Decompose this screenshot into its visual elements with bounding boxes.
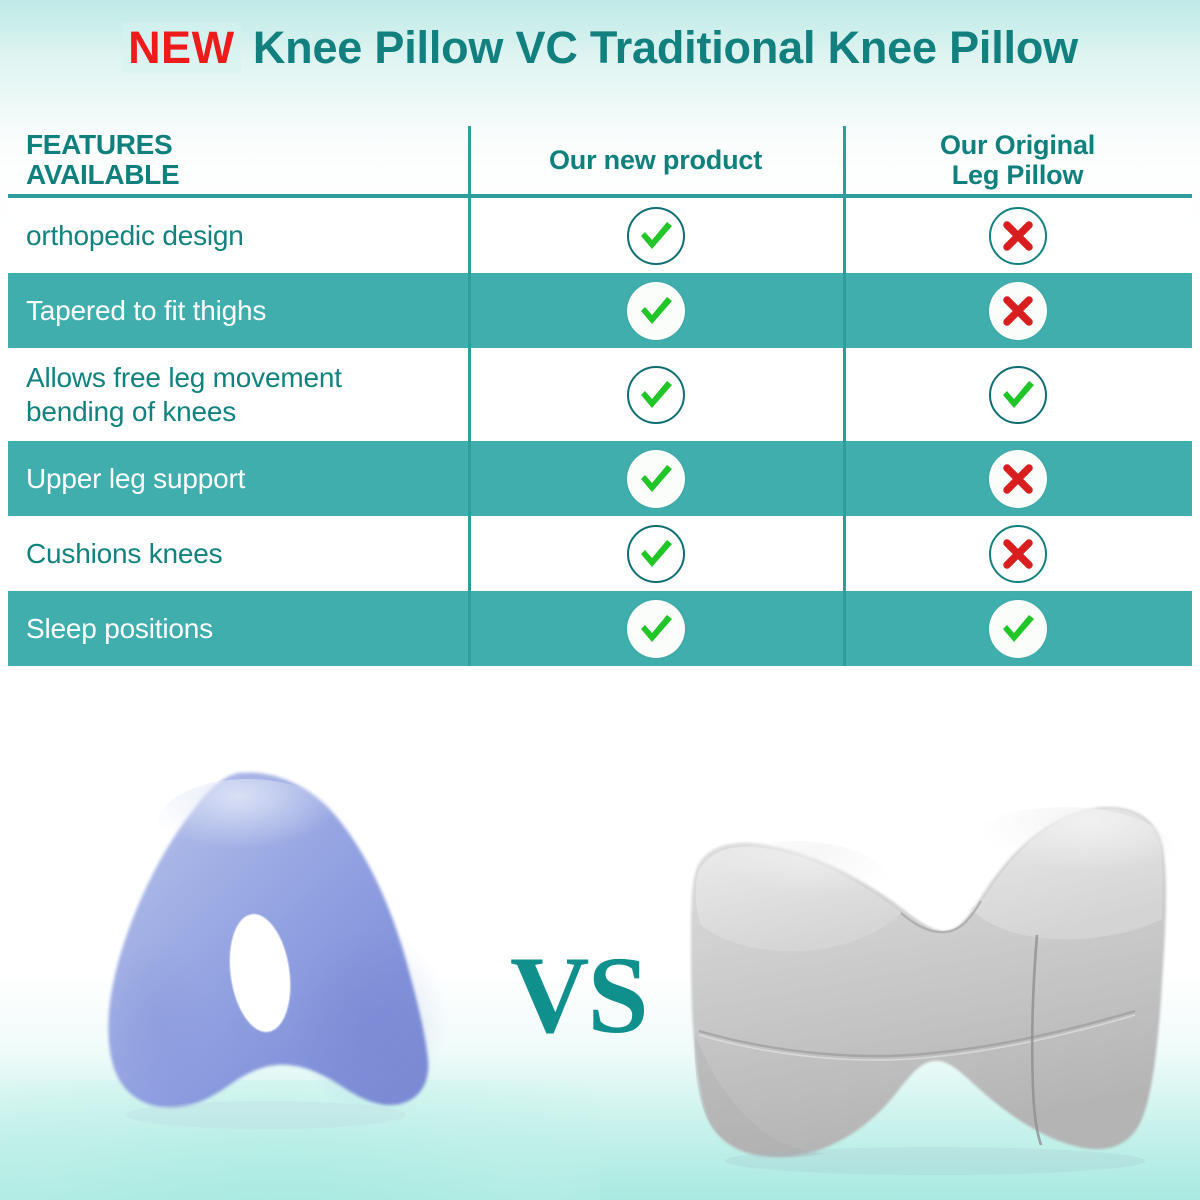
header-cell-original-pillow: Our Original Leg Pillow bbox=[843, 126, 1192, 194]
cell-new-product bbox=[468, 516, 843, 591]
column-divider-2 bbox=[843, 126, 846, 194]
title-new-badge: NEW bbox=[122, 22, 241, 73]
header-cell-new-product: Our new product bbox=[468, 126, 843, 194]
table-row: Cushions knees bbox=[8, 516, 1192, 591]
page-title: NEW Knee Pillow VC Traditional Knee Pill… bbox=[0, 22, 1200, 74]
cell-new-product bbox=[468, 198, 843, 273]
column-divider-2 bbox=[843, 348, 846, 441]
column-divider-2 bbox=[843, 441, 846, 516]
feature-label-line1: Upper leg support bbox=[26, 462, 245, 495]
cell-new-product bbox=[468, 348, 843, 441]
check-icon bbox=[627, 366, 685, 424]
table-header-row: FEATURES AVAILABLE Our new product Our O… bbox=[8, 126, 1192, 198]
cell-feature-name: Upper leg support bbox=[8, 441, 468, 516]
cell-original-pillow bbox=[843, 591, 1192, 666]
feature-label-line1: Tapered to fit thighs bbox=[26, 294, 266, 327]
column-divider-2 bbox=[843, 198, 846, 273]
check-icon bbox=[627, 525, 685, 583]
column-divider-1 bbox=[468, 441, 471, 516]
cell-original-pillow bbox=[843, 198, 1192, 273]
product-comparison-images: VS bbox=[0, 725, 1200, 1200]
feature-label-line2: bending of knees bbox=[26, 395, 342, 428]
check-icon bbox=[627, 207, 685, 265]
table-row: Tapered to fit thighs bbox=[8, 273, 1192, 348]
feature-label: Allows free leg movementbending of knees bbox=[26, 361, 342, 427]
cell-feature-name: Cushions knees bbox=[8, 516, 468, 591]
check-icon bbox=[627, 450, 685, 508]
header-new-product-line1: Our new product bbox=[549, 145, 762, 175]
infographic-page: NEW Knee Pillow VC Traditional Knee Pill… bbox=[0, 0, 1200, 1200]
cross-icon bbox=[989, 525, 1047, 583]
cell-original-pillow bbox=[843, 348, 1192, 441]
column-divider-1 bbox=[468, 273, 471, 348]
feature-label: Tapered to fit thighs bbox=[26, 294, 266, 327]
feature-label: Sleep positions bbox=[26, 612, 213, 645]
header-original-pillow-label: Our Original Leg Pillow bbox=[940, 130, 1095, 190]
new-knee-pillow-image bbox=[70, 755, 460, 1145]
column-divider-1 bbox=[468, 126, 471, 194]
column-divider-1 bbox=[468, 348, 471, 441]
cross-icon bbox=[989, 450, 1047, 508]
feature-label-line1: orthopedic design bbox=[26, 219, 244, 252]
check-icon bbox=[989, 600, 1047, 658]
title-main-text: Knee Pillow VC Traditional Knee Pillow bbox=[241, 22, 1078, 73]
check-icon bbox=[627, 600, 685, 658]
cell-feature-name: Tapered to fit thighs bbox=[8, 273, 468, 348]
header-features-line1: FEATURES bbox=[26, 130, 179, 160]
header-original-line2: Leg Pillow bbox=[940, 160, 1095, 190]
feature-label: orthopedic design bbox=[26, 219, 244, 252]
feature-label-line1: Cushions knees bbox=[26, 537, 222, 570]
cell-original-pillow bbox=[843, 516, 1192, 591]
vs-label: VS bbox=[510, 940, 647, 1050]
feature-label: Cushions knees bbox=[26, 537, 222, 570]
cell-new-product bbox=[468, 591, 843, 666]
check-icon bbox=[989, 366, 1047, 424]
column-divider-1 bbox=[468, 591, 471, 666]
cell-feature-name: orthopedic design bbox=[8, 198, 468, 273]
table-row: Upper leg support bbox=[8, 441, 1192, 516]
cell-original-pillow bbox=[843, 441, 1192, 516]
table-row: Sleep positions bbox=[8, 591, 1192, 666]
feature-label-line1: Sleep positions bbox=[26, 612, 213, 645]
table-row: Allows free leg movementbending of knees bbox=[8, 348, 1192, 441]
cross-icon bbox=[989, 282, 1047, 340]
header-cell-features: FEATURES AVAILABLE bbox=[8, 126, 468, 194]
column-divider-1 bbox=[468, 516, 471, 591]
header-original-line1: Our Original bbox=[940, 130, 1095, 160]
comparison-table: FEATURES AVAILABLE Our new product Our O… bbox=[8, 126, 1192, 666]
original-leg-pillow-image bbox=[665, 785, 1185, 1175]
cell-original-pillow bbox=[843, 273, 1192, 348]
table-body: orthopedic designTapered to fit thighsAl… bbox=[8, 198, 1192, 666]
column-divider-1 bbox=[468, 198, 471, 273]
cell-new-product bbox=[468, 441, 843, 516]
header-features-line2: AVAILABLE bbox=[26, 160, 179, 190]
cell-new-product bbox=[468, 273, 843, 348]
header-new-product-label: Our new product bbox=[549, 145, 762, 175]
column-divider-2 bbox=[843, 273, 846, 348]
cell-feature-name: Sleep positions bbox=[8, 591, 468, 666]
column-divider-2 bbox=[843, 591, 846, 666]
table-row: orthopedic design bbox=[8, 198, 1192, 273]
check-icon bbox=[627, 282, 685, 340]
header-features-label: FEATURES AVAILABLE bbox=[26, 130, 179, 190]
cross-icon bbox=[989, 207, 1047, 265]
cell-feature-name: Allows free leg movementbending of knees bbox=[8, 348, 468, 441]
feature-label: Upper leg support bbox=[26, 462, 245, 495]
column-divider-2 bbox=[843, 516, 846, 591]
feature-label-line1: Allows free leg movement bbox=[26, 361, 342, 394]
